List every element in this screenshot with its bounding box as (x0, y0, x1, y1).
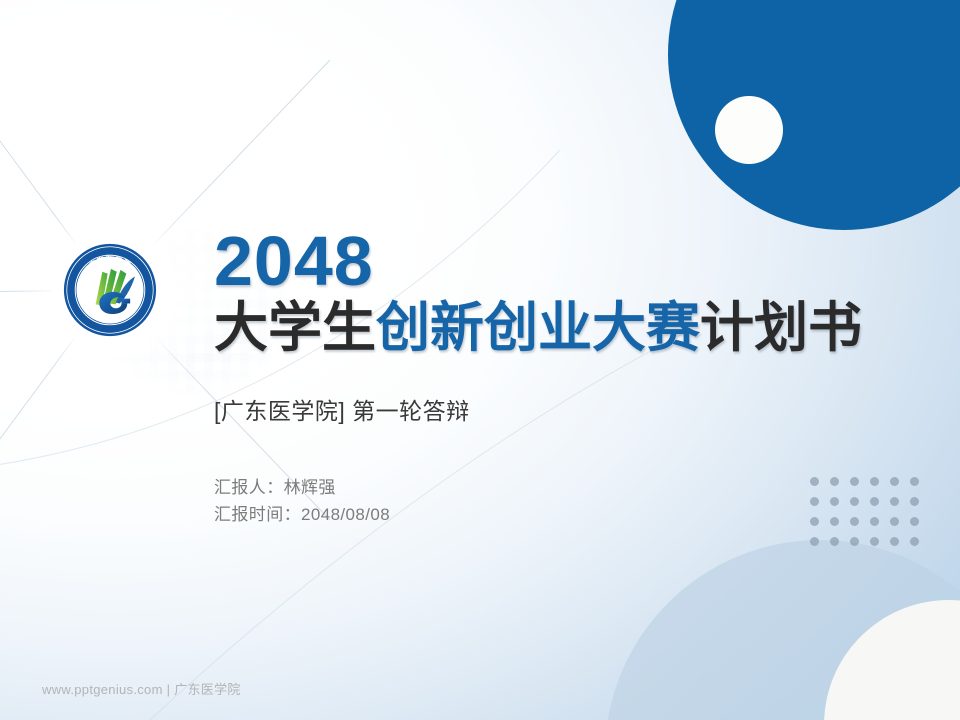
title-slide: 广东医学院 GUANGDONG MEDICAL COLLEGE 2048 大学生… (0, 0, 960, 720)
headline-segment-2: 创新创业大赛 (376, 298, 700, 358)
grid-dot (890, 537, 899, 546)
guangdong-medical-college-emblem-icon: 广东医学院 GUANGDONG MEDICAL COLLEGE (62, 242, 158, 338)
presentation-meta: 汇报人：林辉强 汇报时间：2048/08/08 (214, 474, 914, 529)
headline-segment-1: 大学生 (214, 298, 376, 358)
year-heading: 2048 (214, 228, 914, 295)
white-circle-top-right (715, 96, 783, 164)
grid-dot (830, 537, 839, 546)
pale-circle-bottom-right (605, 540, 960, 720)
college-logo: 广东医学院 GUANGDONG MEDICAL COLLEGE (52, 232, 168, 348)
headline-segment-3: 计划书 (700, 298, 862, 358)
grid-dot (850, 537, 859, 546)
main-headline: 大学生创新创业大赛计划书 (214, 299, 914, 357)
date-line: 汇报时间：2048/08/08 (214, 501, 914, 529)
blue-circle-top-right (668, 0, 960, 230)
title-text-block: 2048 大学生创新创业大赛计划书 [广东医学院] 第一轮答辩 汇报人：林辉强 … (214, 228, 914, 529)
grid-dot (810, 537, 819, 546)
white-circle-bottom-right (824, 600, 960, 720)
grid-dot (910, 537, 919, 546)
presenter-line: 汇报人：林辉强 (214, 474, 914, 502)
footer-credit: www.pptgenius.com | 广东医学院 (42, 679, 241, 698)
subtitle: [广东医学院] 第一轮答辩 (214, 392, 914, 426)
grid-dot (870, 537, 879, 546)
